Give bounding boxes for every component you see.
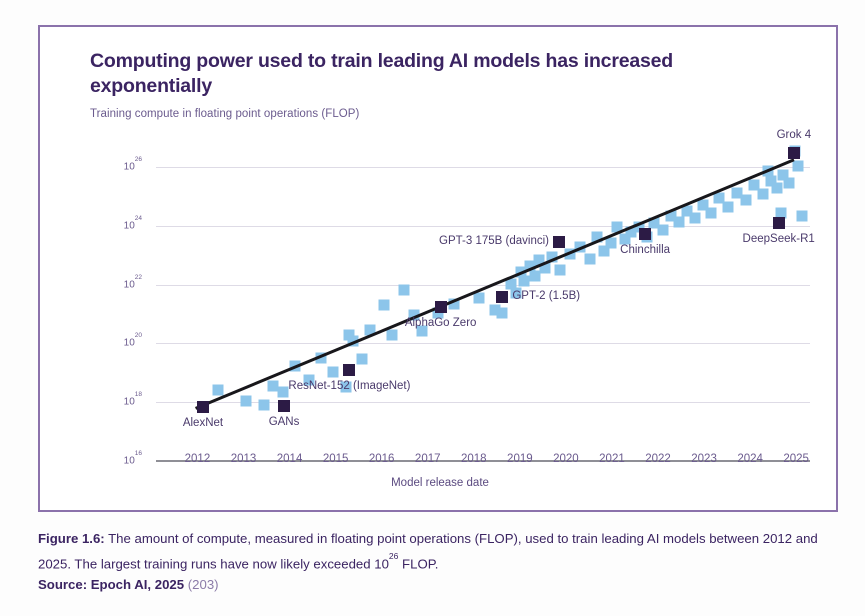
y-tick-label: 1026	[124, 160, 142, 172]
highlighted-point-grok-4	[788, 147, 800, 159]
x-tick-label: 2015	[323, 453, 349, 465]
x-tick-label: 2013	[231, 453, 257, 465]
x-tick-label: 2019	[507, 453, 533, 465]
x-tick-label: 2012	[185, 453, 211, 465]
plot-area: 1026102410221020101810162012201320142015…	[40, 27, 840, 514]
scatter-point	[705, 207, 716, 218]
gridline-10e18	[156, 402, 810, 403]
scatter-point	[555, 265, 566, 276]
scatter-point	[741, 194, 752, 205]
x-tick-label: 2017	[415, 453, 441, 465]
highlighted-point-gpt-3-175b-davinci	[553, 236, 565, 248]
x-tick-label: 2022	[645, 453, 671, 465]
x-tick-label: 2018	[461, 453, 487, 465]
y-tick-label: 1022	[124, 278, 142, 290]
caption-source-ref: (203)	[188, 577, 219, 592]
caption-label: Figure 1.6:	[38, 531, 105, 546]
x-tick-label: 2023	[691, 453, 717, 465]
scatter-point	[398, 284, 409, 295]
x-tick-label: 2016	[369, 453, 395, 465]
scatter-point	[776, 207, 787, 218]
gridline-10e20	[156, 343, 810, 344]
x-tick-label: 2025	[783, 453, 809, 465]
scatter-point	[689, 213, 700, 224]
y-tick-label: 1018	[124, 395, 142, 407]
scatter-point	[328, 367, 339, 378]
annotation-gans: GANs	[269, 416, 300, 428]
figure-root: Computing power used to train leading AI…	[0, 0, 865, 616]
scatter-point	[497, 307, 508, 318]
scatter-point	[771, 183, 782, 194]
gridline-10e22	[156, 285, 810, 286]
highlighted-point-gpt-2-1-5b	[496, 291, 508, 303]
annotation-chinchilla: Chinchilla	[620, 244, 670, 256]
annotation-resnet-152-imagenet: ResNet-152 (ImageNet)	[288, 380, 410, 392]
annotation-deepseek-r1: DeepSeek-R1	[743, 233, 815, 245]
scatter-point	[758, 189, 769, 200]
scatter-point	[793, 160, 804, 171]
highlighted-point-deepseek-r1	[773, 217, 785, 229]
x-tick-label: 2020	[553, 453, 579, 465]
gridline-10e26	[156, 167, 810, 168]
chart-frame: Computing power used to train leading AI…	[38, 25, 838, 512]
y-tick-label: 1024	[124, 219, 142, 231]
highlighted-point-alphago-zero	[435, 301, 447, 313]
scatter-point	[277, 386, 288, 397]
y-tick-label: 1020	[124, 336, 142, 348]
caption-exponent: 26	[389, 551, 398, 561]
caption-source: Source: Epoch AI, 2025	[38, 577, 184, 592]
scatter-point	[723, 201, 734, 212]
x-tick-label: 2021	[599, 453, 625, 465]
scatter-point	[259, 399, 270, 410]
annotation-grok-4: Grok 4	[777, 129, 812, 141]
scatter-point	[673, 217, 684, 228]
annotation-alexnet: AlexNet	[183, 417, 223, 429]
scatter-point	[386, 329, 397, 340]
scatter-point	[796, 211, 807, 222]
annotation-gpt-2-1-5b: GPT-2 (1.5B)	[512, 290, 580, 302]
highlighted-point-gans	[278, 400, 290, 412]
highlighted-point-alexnet	[197, 401, 209, 413]
scatter-point	[584, 253, 595, 264]
x-axis-title: Model release date	[40, 477, 840, 489]
annotation-alphago-zero: AlphaGo Zero	[405, 317, 477, 329]
x-tick-label: 2024	[737, 453, 763, 465]
scatter-point	[213, 384, 224, 395]
scatter-point	[657, 225, 668, 236]
caption-tail: FLOP.	[398, 556, 438, 571]
x-tick-label: 2014	[277, 453, 303, 465]
scatter-point	[474, 292, 485, 303]
highlighted-point-resnet-152-imagenet	[343, 364, 355, 376]
gridline-10e24	[156, 226, 810, 227]
annotation-gpt-3-175b-davinci: GPT-3 175B (davinci)	[439, 235, 549, 247]
highlighted-point-chinchilla	[639, 228, 651, 240]
figure-caption: Figure 1.6: The amount of compute, measu…	[38, 528, 828, 596]
scatter-point	[240, 395, 251, 406]
y-tick-label: 1016	[124, 454, 142, 466]
scatter-point	[784, 178, 795, 189]
scatter-point	[378, 299, 389, 310]
scatter-point	[357, 353, 368, 364]
scatter-point	[529, 270, 540, 281]
